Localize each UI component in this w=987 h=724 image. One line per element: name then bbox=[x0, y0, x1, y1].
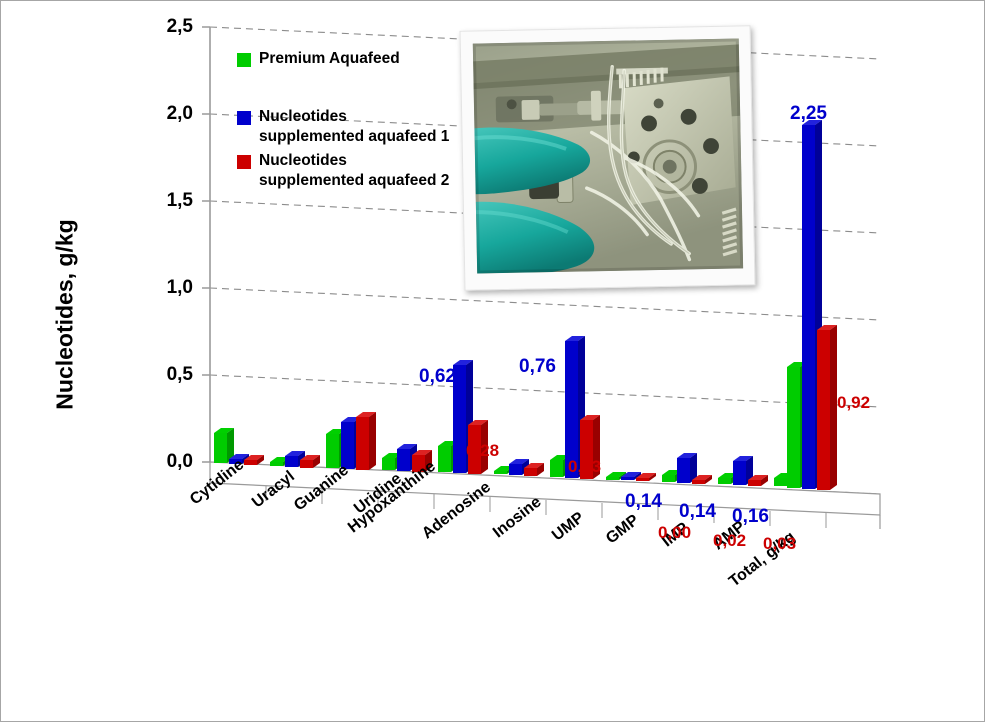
bar-group-guanine bbox=[326, 412, 376, 470]
data-label-inosine-red: 0,33 bbox=[568, 457, 601, 477]
bar-group-imp bbox=[718, 456, 768, 486]
legend-item-supplemented-1[interactable]: Nucleotides supplemented aquafeed 1 bbox=[237, 107, 452, 147]
data-label-hypoxanthine-red: 0,28 bbox=[466, 441, 499, 461]
bar-group-ump bbox=[606, 472, 656, 481]
legend-label-supplemented-1: Nucleotides supplemented aquafeed 1 bbox=[259, 107, 452, 147]
data-label-total-blue: 2,25 bbox=[790, 103, 827, 125]
legend-spacer bbox=[237, 71, 452, 107]
data-label-imp-blue: 0,14 bbox=[679, 501, 716, 523]
legend-label-supplemented-2: Nucleotides supplemented aquafeed 2 bbox=[259, 151, 452, 191]
data-label-gmp-red: 0,00 bbox=[658, 523, 691, 543]
legend-label-premium-aquafeed: Premium Aquafeed bbox=[259, 49, 400, 69]
bar-group-adenosine bbox=[494, 459, 544, 476]
y-tick-0.5: 0,5 bbox=[133, 364, 193, 386]
legend-swatch-green bbox=[237, 53, 251, 67]
y-tick-1.5: 1,5 bbox=[133, 190, 193, 212]
chart-frame: Nucleotides, g/kg bbox=[0, 0, 985, 722]
bar-group-gmp bbox=[662, 453, 712, 484]
data-label-gmp-blue: 0,14 bbox=[625, 491, 662, 513]
data-label-hypoxanthine-blue: 0,62 bbox=[419, 366, 456, 388]
data-label-amp-blue: 0,16 bbox=[732, 506, 769, 528]
legend-swatch-blue bbox=[237, 111, 251, 125]
y-tick-0.0: 0,0 bbox=[133, 451, 193, 473]
bar-group-uracyl bbox=[270, 451, 320, 468]
laboratory-hplc-tubing-photo bbox=[473, 38, 743, 273]
photo-illustration bbox=[473, 38, 743, 273]
y-tick-2.5: 2,5 bbox=[133, 16, 193, 38]
data-label-imp-red: 0,02 bbox=[713, 531, 746, 551]
data-label-total-red: 0,92 bbox=[837, 393, 870, 413]
chart-legend: Premium Aquafeed Nucleotides supplemente… bbox=[237, 49, 452, 193]
inset-photo-frame bbox=[460, 25, 756, 291]
y-axis-line bbox=[202, 27, 210, 462]
legend-item-premium-aquafeed[interactable]: Premium Aquafeed bbox=[237, 49, 452, 69]
legend-swatch-red bbox=[237, 155, 251, 169]
y-tick-1.0: 1,0 bbox=[133, 277, 193, 299]
data-label-amp-red: 0,03 bbox=[763, 534, 796, 554]
legend-item-supplemented-2[interactable]: Nucleotides supplemented aquafeed 2 bbox=[237, 151, 452, 191]
y-tick-2.0: 2,0 bbox=[133, 103, 193, 125]
data-label-inosine-blue: 0,76 bbox=[519, 356, 556, 378]
bar-group-total bbox=[787, 120, 837, 490]
